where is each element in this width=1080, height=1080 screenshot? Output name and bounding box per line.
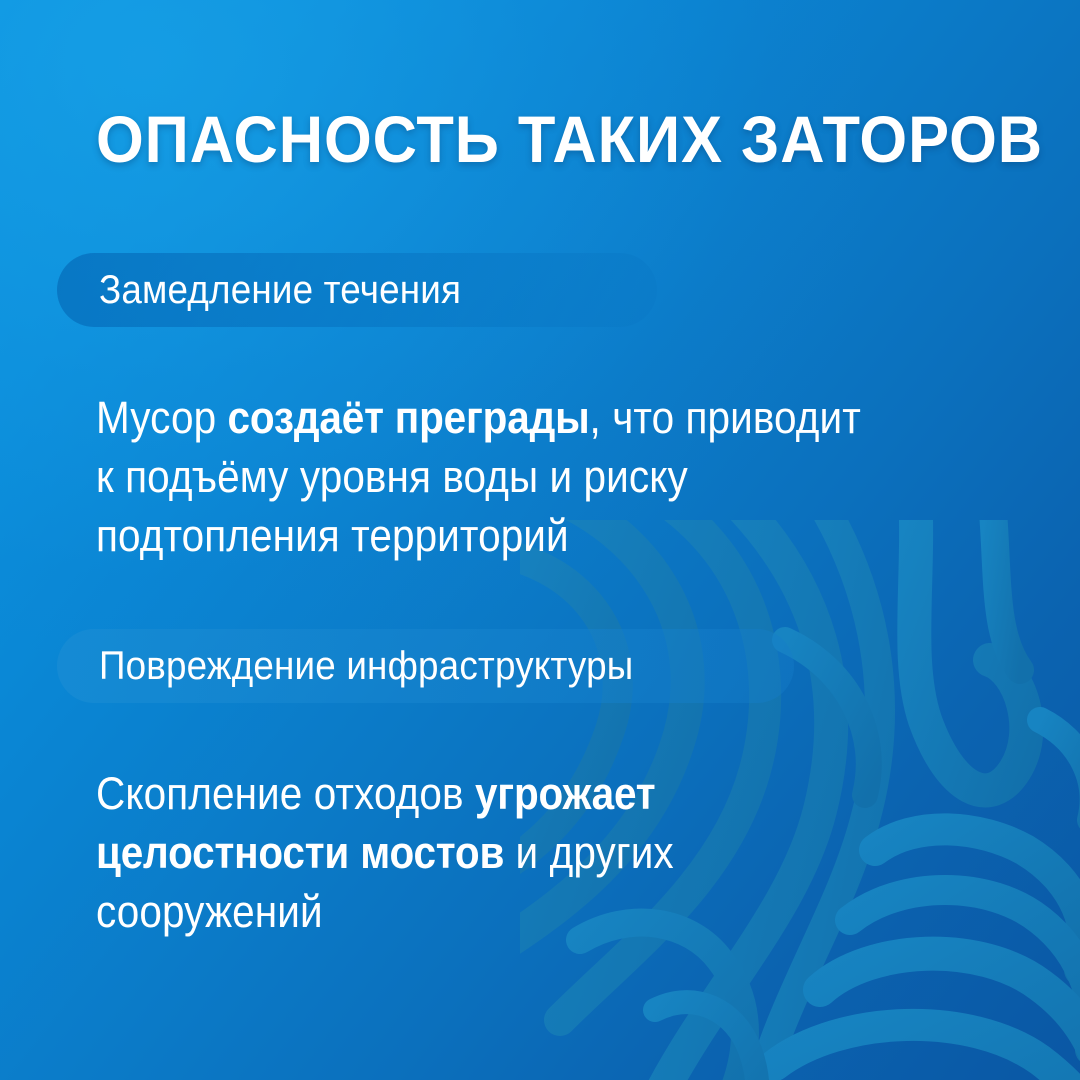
- body-text: Скопление отходов: [96, 768, 475, 819]
- paragraph-line: целостности мостов и других: [96, 823, 843, 882]
- emphasis-text: создаёт преграды: [228, 392, 590, 443]
- section-heading-pill-2: Повреждение инфраструктуры: [57, 629, 794, 703]
- paragraph-line: подтопления территорий: [96, 506, 843, 565]
- body-text: Мусор: [96, 392, 228, 443]
- section-heading-label-2: Повреждение инфраструктуры: [99, 644, 633, 688]
- paragraph-line: сооружений: [96, 882, 843, 941]
- infographic-slide: ОПАСНОСТЬ ТАКИХ ЗАТОРОВ Замедление течен…: [0, 0, 1080, 1080]
- body-text: к подъёму уровня воды и риску: [96, 451, 688, 502]
- paragraph-line: Мусор создаёт преграды, что приводит: [96, 388, 843, 447]
- body-text: подтопления территорий: [96, 510, 569, 561]
- paragraph-line: Скопление отходов угрожает: [96, 764, 843, 823]
- paragraph-line: к подъёму уровня воды и риску: [96, 447, 843, 506]
- emphasis-text: угрожает: [475, 768, 655, 819]
- body-text: , что приводит: [590, 392, 861, 443]
- emphasis-text: целостности мостов: [96, 827, 504, 878]
- body-text: и других: [504, 827, 674, 878]
- section-heading-pill-1: Замедление течения: [57, 253, 657, 327]
- section-heading-label-1: Замедление течения: [99, 268, 461, 312]
- body-text: сооружений: [96, 886, 323, 937]
- page-title: ОПАСНОСТЬ ТАКИХ ЗАТОРОВ: [96, 104, 896, 174]
- section-paragraph-1: Мусор создаёт преграды, что приводитк по…: [96, 388, 926, 565]
- section-paragraph-2: Скопление отходов угрожаетцелостности мо…: [96, 764, 926, 941]
